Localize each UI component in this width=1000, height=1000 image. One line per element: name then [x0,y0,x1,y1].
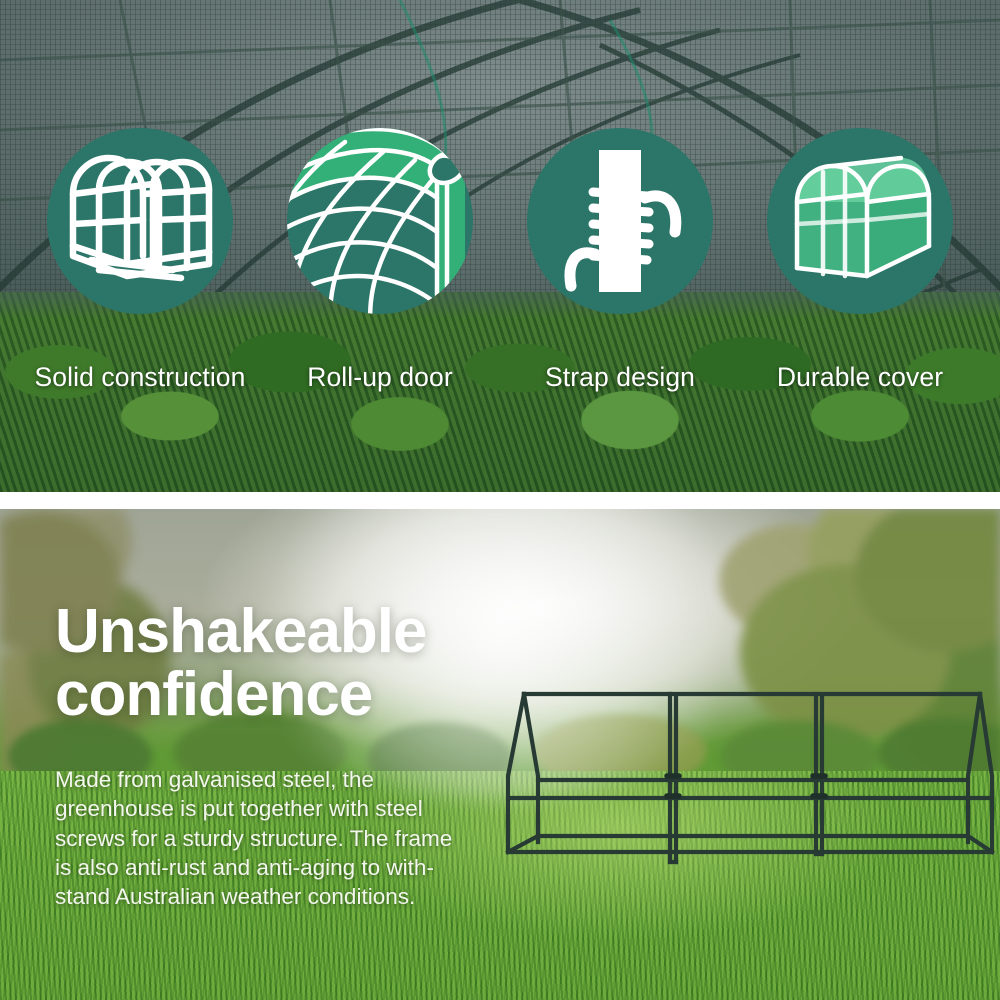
feature-label-4: Durable cover [740,357,980,397]
greenhouse-frame-wireframe-icon [47,128,233,314]
feature-icon-row [0,128,1000,314]
greenhouse-steel-frame-illustration [500,676,1000,876]
product-frame-image [500,676,1000,876]
strap-on-pole-icon [527,128,713,314]
body-line-2: greenhouse is put together with steel [55,794,485,823]
feature-label-1: Solid construction [20,357,260,397]
feature-icon-2-roll-up-door [287,128,473,314]
body-line-1: Made from galvanised steel, the [55,765,485,794]
body-line-5: stand Australian weather conditions. [55,882,485,911]
feature-label-3: Strap design [500,357,740,397]
headline: Unshakeable confidence [55,600,575,726]
feature-icon-1-solid-construction [47,128,233,314]
icon-circle [527,128,713,314]
icon-circle [767,128,953,314]
feature-label-row: Solid construction Roll-up door Strap de… [0,357,1000,397]
roll-up-door-icon [287,128,473,314]
headline-line-1: Unshakeable [55,597,427,666]
body-copy: Made from galvanised steel, the greenhou… [55,765,485,911]
feature-icon-3-strap-design [527,128,713,314]
icon-circle [287,128,473,314]
icon-circle [47,128,233,314]
product-marketing-image: Solid construction Roll-up door Strap de… [0,0,1000,1000]
headline-line-2: confidence [55,663,575,726]
feature-label-2: Roll-up door [260,357,500,397]
section-divider [0,492,1000,509]
feature-icon-4-durable-cover [767,128,953,314]
durable-green-cover-greenhouse-icon [767,128,953,314]
body-line-4: is also anti-rust and anti-aging to with… [55,853,485,882]
body-line-3: screws for a sturdy structure. The frame [55,824,485,853]
features-panel: Solid construction Roll-up door Strap de… [0,0,1000,492]
